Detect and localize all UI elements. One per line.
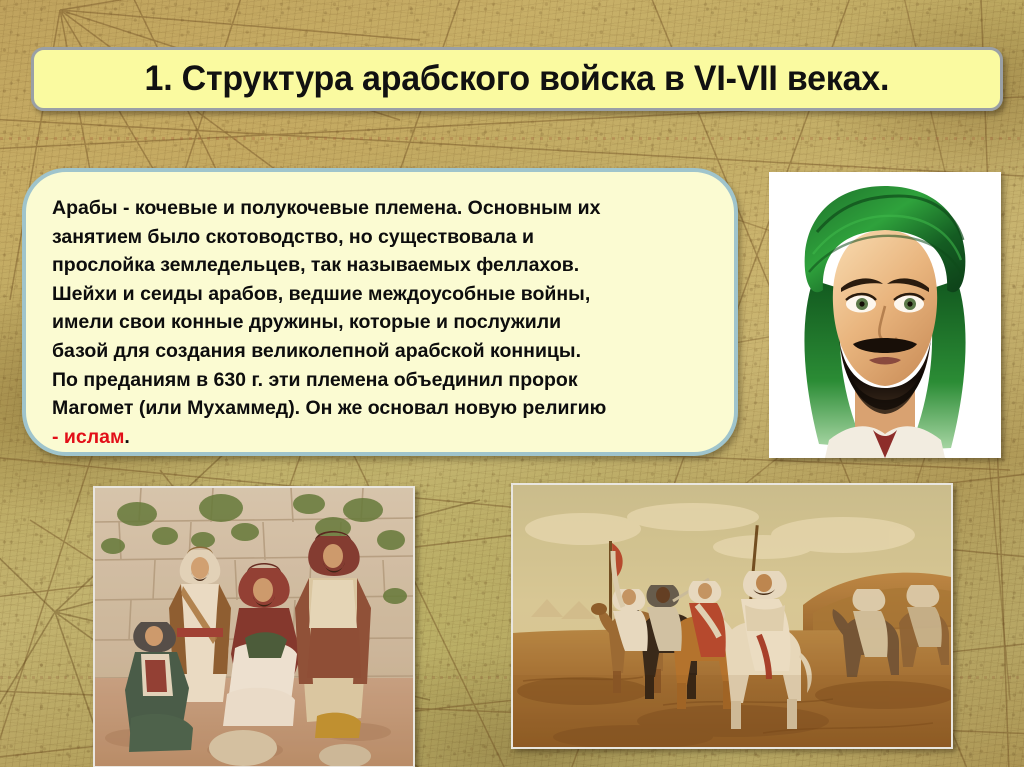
islam-highlight-period: . [124, 426, 129, 448]
arab-horsemen-painting [511, 483, 953, 749]
body-paragraph: Арабы - кочевые и полукочевые племена. О… [52, 194, 708, 423]
bedouin-men-photo [93, 486, 415, 767]
islam-highlight-text: - ислам [52, 426, 124, 448]
slide-canvas: 1. Структура арабского войска в VI-VII в… [0, 0, 1024, 767]
prophet-muhammad-portrait [769, 172, 1001, 458]
islam-highlight: - ислам. [52, 423, 708, 452]
slide-title-banner: 1. Структура арабского войска в VI-VII в… [31, 47, 1003, 111]
body-text-callout: Арабы - кочевые и полукочевые племена. О… [22, 168, 738, 456]
page-title: 1. Структура арабского войска в VI-VII в… [145, 59, 890, 99]
